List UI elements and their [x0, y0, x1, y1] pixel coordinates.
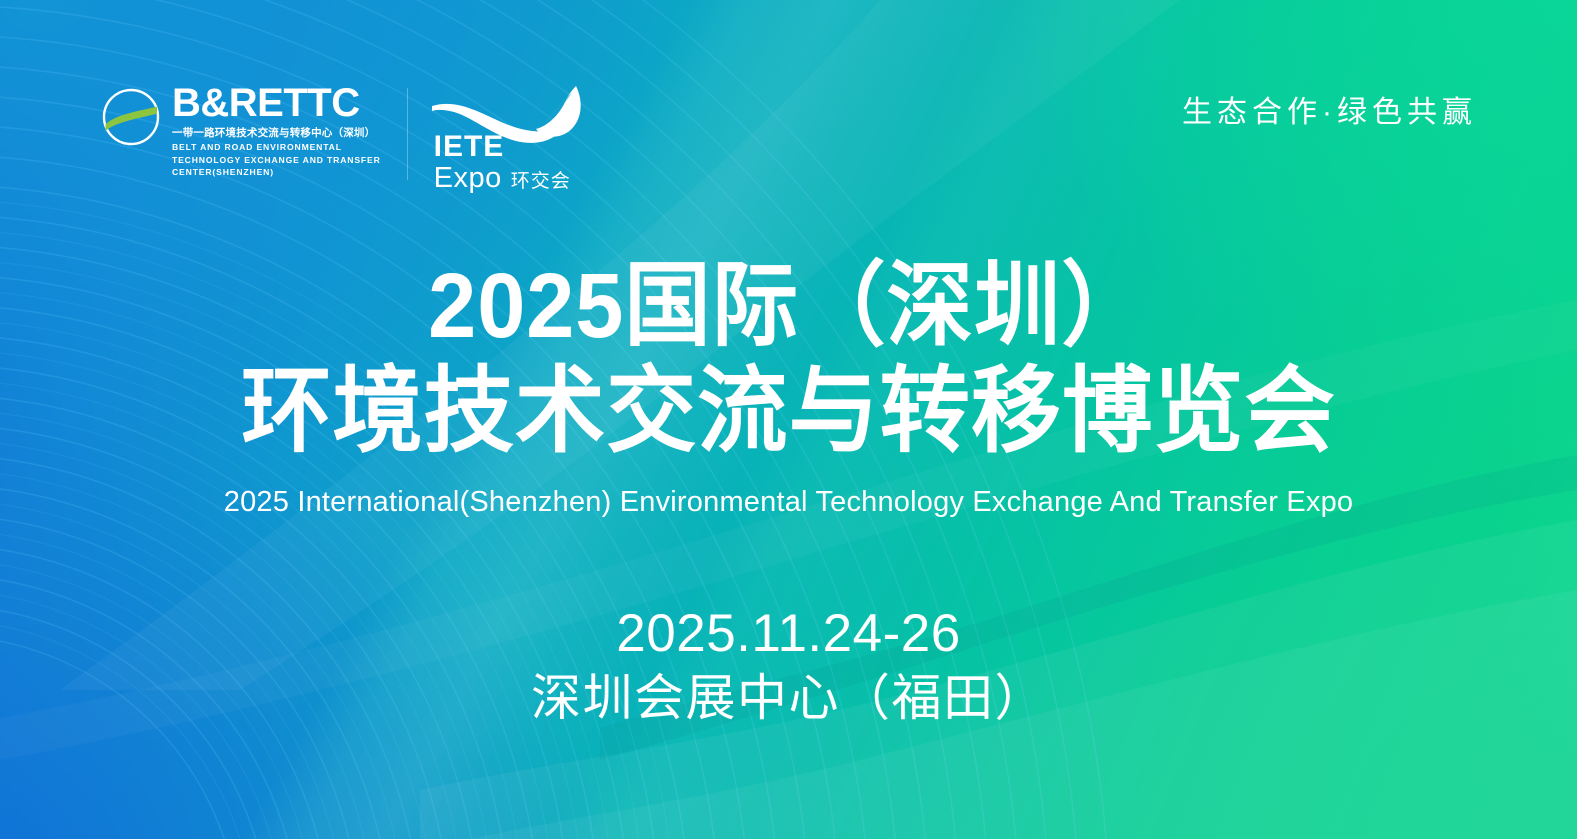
iete-expo-word: Expo: [434, 164, 502, 193]
iete-expo-logo[interactable]: IETE Expo 环交会: [432, 84, 592, 192]
brettc-text-block: B&RETTC 一带一路环境技术交流与转移中心（深圳） BELT AND ROA…: [172, 84, 381, 178]
event-date: 2025.11.24-26: [0, 604, 1577, 663]
iete-subline: Expo 环交会: [434, 164, 571, 193]
logo-divider: [407, 88, 408, 180]
event-banner: B&RETTC 一带一路环境技术交流与转移中心（深圳） BELT AND ROA…: [0, 0, 1577, 839]
iete-acronym: IETE: [434, 132, 571, 163]
title-subtitle-english: 2025 International(Shenzhen) Environment…: [0, 485, 1577, 520]
brettc-english-line-2: TECHNOLOGY EXCHANGE AND TRANSFER: [172, 154, 381, 166]
banner-slogan: 生态合作·绿色共赢: [1182, 98, 1477, 128]
title-line-1: 2025国际（深圳）: [47, 258, 1529, 356]
iete-text-block: IETE Expo 环交会: [434, 132, 571, 193]
brettc-english-line-1: BELT AND ROAD ENVIRONMENTAL: [172, 141, 381, 153]
event-details-block: 2025.11.24-26 深圳会展中心（福田）: [0, 604, 1577, 728]
banner-title-block: 2025国际（深圳） 环境技术交流与转移博览会 2025 Internation…: [0, 258, 1577, 520]
brettc-wordmark: B&RETTC: [172, 84, 381, 123]
title-line-2: 环境技术交流与转移博览会: [32, 360, 1546, 462]
circle-globe-green-band-icon: [100, 86, 162, 148]
banner-header: B&RETTC 一带一路环境技术交流与转移中心（深圳） BELT AND ROA…: [0, 84, 1577, 204]
event-venue: 深圳会展中心（福田）: [0, 669, 1577, 728]
iete-chinese-short: 环交会: [511, 172, 571, 191]
brettc-chinese-name: 一带一路环境技术交流与转移中心（深圳）: [172, 126, 381, 141]
brettc-english-line-3: CENTER(SHENZHEN): [172, 166, 381, 178]
brettc-logo[interactable]: B&RETTC 一带一路环境技术交流与转移中心（深圳） BELT AND ROA…: [100, 84, 381, 178]
